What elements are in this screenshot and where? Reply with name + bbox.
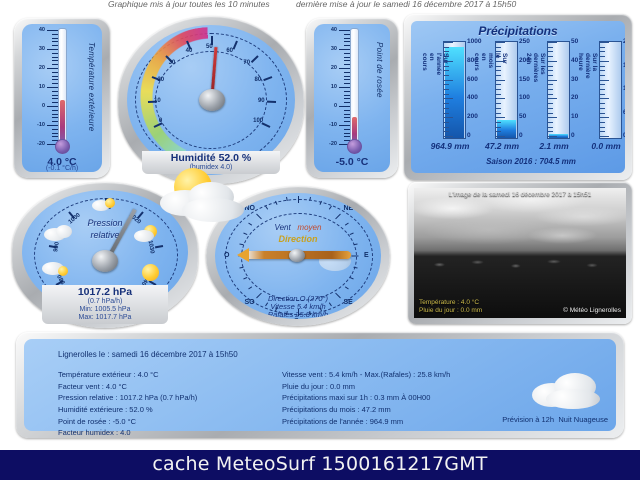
dew-point-label: Point de rosée bbox=[375, 42, 384, 98]
header-right-note: dernière mise à jour le samedi 16 décemb… bbox=[296, 0, 516, 9]
wind-arrow-head bbox=[237, 248, 249, 262]
precip-gauge-body bbox=[599, 41, 622, 139]
precip-tick-label: 250 bbox=[519, 38, 530, 45]
precip-tick-label: 6 bbox=[623, 109, 625, 116]
summary-face: Lignerolles le : samedi 16 décembre 2017… bbox=[24, 339, 616, 431]
dew-point-panel[interactable]: 403020100-10-20 Point de rosée -5.0 °C bbox=[306, 18, 398, 178]
humidity-readout: Humidité 52.0 % bbox=[142, 152, 280, 164]
outdoor-temp-scale: 403020100-10-20 bbox=[36, 30, 58, 144]
humidity-hub bbox=[199, 89, 225, 111]
summary-line: Précipitations maxi sur 1h : 0.3 mm À 00… bbox=[282, 392, 450, 404]
precip-gauge-label: Sur le mois en cours bbox=[473, 53, 508, 71]
summary-date: Lignerolles le : samedi 16 décembre 2017… bbox=[58, 350, 238, 359]
pressure-min: Min: 1005.5 hPa bbox=[42, 306, 168, 314]
summary-left-column: Température extérieur : 4.0 °CFacteur ve… bbox=[58, 369, 197, 439]
pressure-hub bbox=[92, 250, 118, 272]
header-left-note: Graphique mis à jour toutes les 10 minut… bbox=[108, 0, 270, 9]
precipitation-title: Précipitations bbox=[411, 24, 625, 38]
wind-title-b: moyen bbox=[297, 223, 321, 232]
dew-point-scale: 403020100-10-20 bbox=[328, 30, 350, 144]
footer-text: cache MeteoSurf 1500161217GMT bbox=[0, 453, 640, 475]
weather-dashboard: Graphique mis à jour toutes les 10 minut… bbox=[0, 0, 640, 450]
summary-line: Température extérieur : 4.0 °C bbox=[58, 369, 197, 381]
summary-line: Pression relative : 1017.2 hPa (0.7 hPa/… bbox=[58, 392, 197, 404]
summary-line: Humidité extérieure : 52.0 % bbox=[58, 404, 197, 416]
forecast-label: Prévision à 12h bbox=[502, 415, 554, 424]
precipitation-panel[interactable]: Précipitations 10008006004002000Sur l'an… bbox=[404, 14, 632, 180]
dew-point-value: -5.0 °C bbox=[314, 156, 390, 168]
webcam-overlay-rain: Pluie du jour : 0.0 mm bbox=[419, 307, 482, 315]
wind-title-c: Direction bbox=[215, 234, 381, 244]
precip-gauge-label: Sur l'année en cours bbox=[421, 53, 449, 75]
webcam-sky bbox=[414, 188, 626, 256]
precip-tick-label: 400 bbox=[467, 94, 478, 101]
dew-point-bulb bbox=[347, 139, 362, 154]
precip-tick-label: 19 bbox=[623, 62, 625, 69]
precip-gauge-value: 0.0 mm bbox=[569, 141, 625, 151]
precip-tick-label: 50 bbox=[519, 113, 526, 120]
summary-line: Précipitations du mois : 47.2 mm bbox=[282, 404, 450, 416]
summary-right-column: Vitesse vent : 5.4 km/h - Max.(Rafales) … bbox=[282, 369, 450, 427]
outdoor-temperature-face: 403020100-10-20 Température extérieure 4… bbox=[22, 24, 102, 172]
precipitation-face: Précipitations 10008006004002000Sur l'an… bbox=[411, 21, 625, 173]
precipitation-season-total: Saison 2016 : 704.5 mm bbox=[451, 157, 611, 166]
summary-panel[interactable]: Lignerolles le : samedi 16 décembre 2017… bbox=[16, 332, 624, 438]
outdoor-temp-rate: (-0.1 °C/h) bbox=[14, 165, 110, 172]
precip-tick-label: 1000 bbox=[467, 38, 481, 45]
webcam-image: L'image de la samedi 16 décembre 2017 à … bbox=[414, 188, 626, 318]
webcam-copyright: © Météo Lignerolles bbox=[563, 307, 621, 314]
webcam-overlay: Température : 4.0 °C Pluie du jour : 0.0… bbox=[419, 299, 482, 315]
webcam-overlay-temp: Température : 4.0 °C bbox=[419, 299, 482, 307]
summary-line: Précipitations de l'année : 964.9 mm bbox=[282, 416, 450, 428]
precip-tick-label: 0 bbox=[571, 132, 575, 139]
dew-point-tube bbox=[350, 28, 359, 146]
summary-line: Point de rosée : -5.0 °C bbox=[58, 416, 197, 428]
precip-tick-label: 25 bbox=[623, 38, 625, 45]
pressure-rate: (0.7 hPa/h) bbox=[42, 298, 168, 306]
pressure-readout-plate: 1017.2 hPa (0.7 hPa/h) Min: 1005.5 hPa M… bbox=[42, 285, 168, 324]
summary-line: Pluie du jour : 0.0 mm bbox=[282, 381, 450, 393]
precip-tick-label: 100 bbox=[519, 94, 530, 101]
precip-tick-label: 0 bbox=[623, 132, 625, 139]
summary-line: Vitesse vent : 5.4 km/h - Max.(Rafales) … bbox=[282, 369, 450, 381]
precip-tick-label: 0 bbox=[519, 132, 523, 139]
precip-tick-label: 600 bbox=[467, 76, 478, 83]
outdoor-temp-bulb bbox=[55, 139, 70, 154]
outdoor-temperature-panel[interactable]: 403020100-10-20 Température extérieure 4… bbox=[14, 18, 110, 178]
humidity-gauge-panel[interactable]: 0102030405060708090100 Humidité 52.0 % (… bbox=[118, 16, 304, 184]
forecast-value: Nuit Nuageuse bbox=[558, 415, 608, 424]
precip-gauge-body bbox=[547, 41, 570, 139]
webcam-panel[interactable]: L'image de la samedi 16 décembre 2017 à … bbox=[408, 182, 632, 324]
wind-title-a: Vent bbox=[275, 223, 291, 232]
header-notes: Graphique mis à jour toutes les 10 minut… bbox=[0, 0, 640, 11]
precip-tick-label: 0 bbox=[467, 132, 471, 139]
forecast-cloud-icon bbox=[532, 369, 604, 411]
summary-line: Facteur vent : 4.0 °C bbox=[58, 381, 197, 393]
pressure-readout: 1017.2 hPa bbox=[42, 286, 168, 298]
precip-tick-label: 10 bbox=[571, 113, 578, 120]
wind-hub bbox=[289, 249, 305, 262]
precip-gauge-label: Sur les dernières 24h bbox=[525, 53, 546, 82]
webcam-caption: L'image de la samedi 16 décembre 2017 à … bbox=[414, 191, 626, 198]
pressure-max: Max: 1017.7 hPa bbox=[42, 314, 168, 322]
precip-tick-label: 20 bbox=[571, 94, 578, 101]
dew-point-face: 403020100-10-20 Point de rosée -5.0 °C bbox=[314, 24, 390, 172]
precip-tick-label: 200 bbox=[467, 113, 478, 120]
precip-gauge-label: Sur la dernière heure bbox=[577, 53, 598, 79]
footer-bar: cache MeteoSurf 1500161217GMT bbox=[0, 450, 640, 480]
weather-overlay-icon bbox=[160, 168, 256, 230]
wind-gust-readout: Rafales 25.8 km/h bbox=[215, 310, 381, 319]
outdoor-temp-tube bbox=[58, 28, 67, 146]
precip-tick-label: 50 bbox=[571, 38, 578, 45]
summary-line: Facteur humidex : 4.0 bbox=[58, 427, 197, 439]
precip-tick-label: 13 bbox=[623, 85, 625, 92]
outdoor-temp-label: Température extérieure bbox=[87, 42, 96, 131]
sun-icon bbox=[142, 264, 159, 281]
